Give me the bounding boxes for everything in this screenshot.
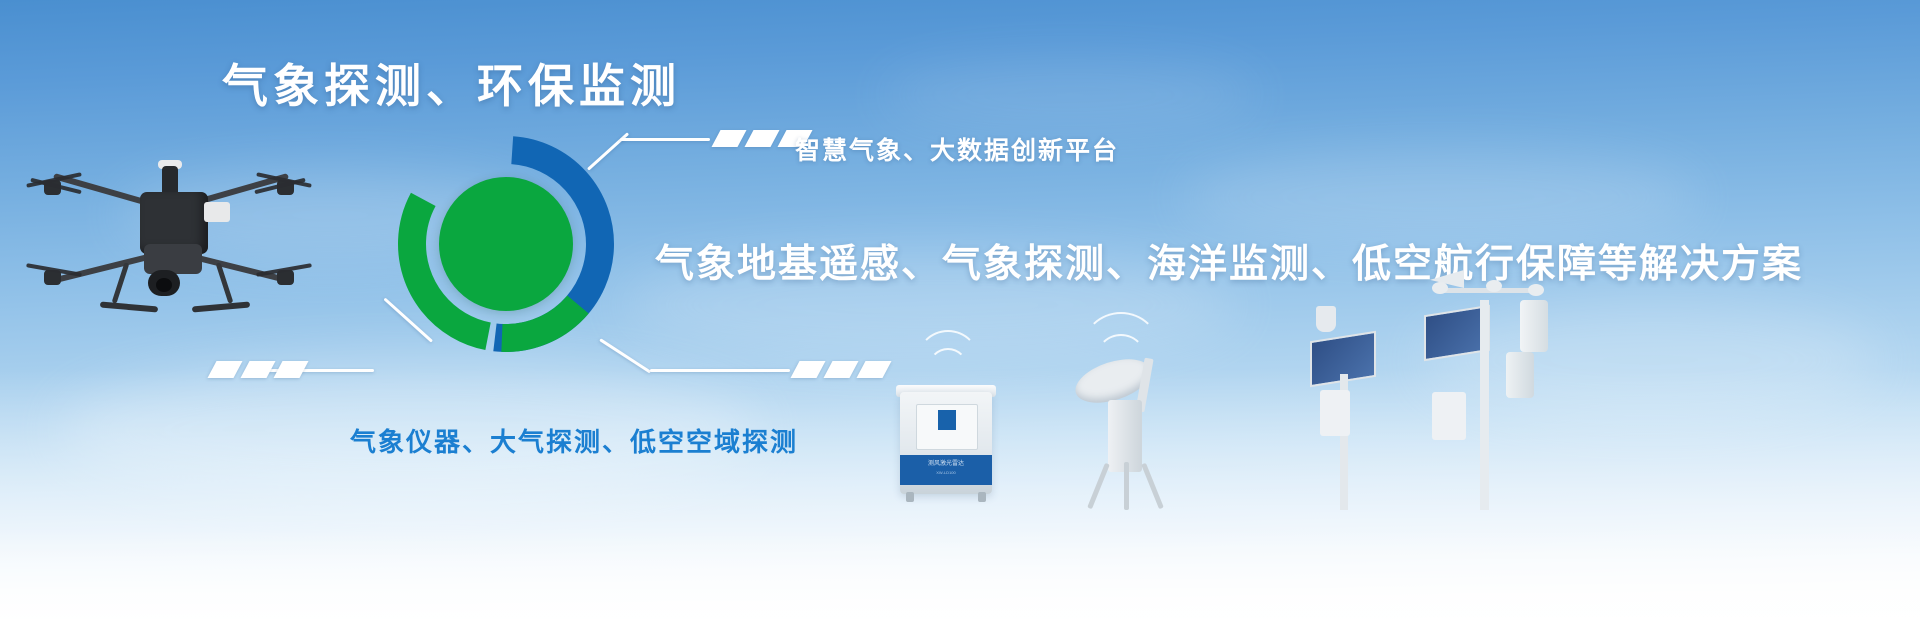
subtitle-top-right: 智慧气象、大数据创新平台 (795, 131, 1119, 167)
anemometer-cup (1432, 282, 1448, 294)
slanted-bar-icon (207, 361, 242, 378)
cloud-decoration (880, 60, 1260, 130)
rain-gauge-sensor (1506, 352, 1534, 398)
slanted-bar-icon (240, 361, 275, 378)
slanted-bar-icon (790, 361, 825, 378)
drone-lower-body (144, 244, 202, 274)
station-enclosure (1320, 390, 1350, 436)
hero-banner: 气象探测、环保监测 智慧气象、大数据创新平台 气象地基遥感、气象探测、海洋监测、… (0, 0, 1920, 619)
donut-diagram (392, 130, 620, 358)
anemometer-cup (1486, 280, 1502, 292)
drone-camera-lens (156, 278, 172, 292)
drone-skid (192, 301, 250, 312)
horizon-haze-lower (0, 529, 1920, 619)
station-enclosure (1432, 392, 1466, 440)
subtitle-main: 气象地基遥感、气象探测、海洋监测、低空航行保障等解决方案 (655, 233, 1803, 289)
slanted-bar-icon (823, 361, 858, 378)
connector-line-right (650, 369, 790, 372)
slanted-bar-icon (711, 130, 746, 147)
rain-gauge (1316, 306, 1336, 332)
donut-center (439, 177, 573, 311)
drone-side-module (204, 202, 230, 222)
drone-icon (44, 158, 294, 338)
radiation-shield-sensor (1520, 300, 1548, 352)
accent-bars-bottom (212, 361, 304, 378)
accent-bars-right (795, 361, 887, 378)
subtitle-bottom-left: 气象仪器、大气探测、低空空域探测 (350, 422, 798, 459)
slanted-bar-icon (744, 130, 779, 147)
drone-skid (100, 301, 158, 312)
analyzer-name-text: 测风激光雷达 (906, 458, 986, 467)
station-pole (1480, 300, 1489, 510)
cloud-decoration (1180, 150, 1700, 245)
slanted-bar-icon (273, 361, 308, 378)
anemometer-cup (1528, 284, 1544, 296)
page-title: 气象探测、环保监测 (222, 50, 681, 116)
analyzer-foot (906, 492, 914, 502)
signal-waves-icon (928, 348, 968, 388)
connector-line-top (620, 138, 710, 141)
drone-arm (52, 254, 149, 284)
analyzer-model-text: XW-LD100 (906, 470, 986, 475)
tripod-leg (1124, 462, 1129, 510)
analyzer-foot (978, 492, 986, 502)
analyzer-brand-logo (938, 410, 956, 430)
slanted-bar-icon (856, 361, 891, 378)
